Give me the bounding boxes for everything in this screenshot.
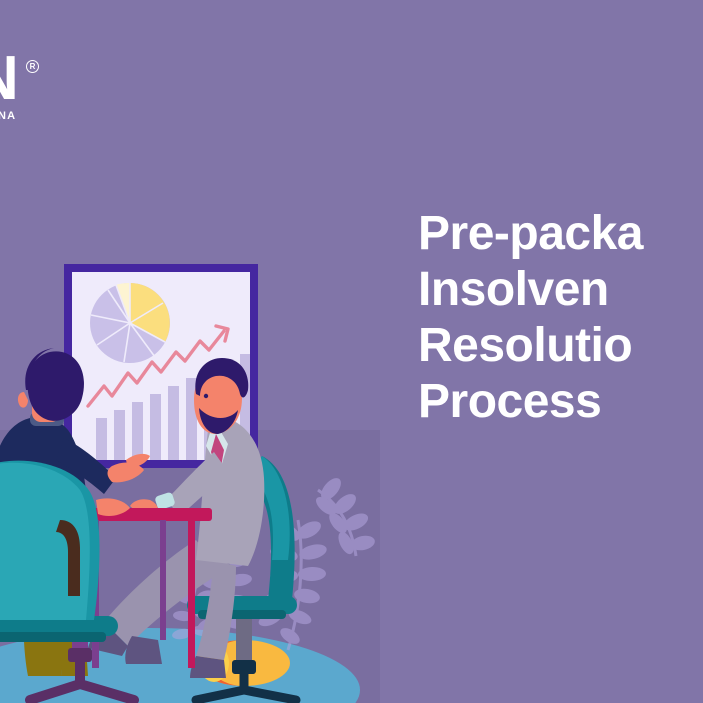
banner-container: N R NA Pre-packa Insolven Resolutio Proc… <box>0 0 703 703</box>
presenter-front-shoe <box>125 636 162 664</box>
title-line-1: Pre-packa <box>418 206 703 262</box>
office-illustration <box>0 0 380 703</box>
page-title: Pre-packa Insolven Resolutio Process <box>418 206 703 431</box>
title-line-2: Insolven <box>418 262 703 318</box>
pie-chart <box>90 283 170 363</box>
title-line-3: Resolutio <box>418 318 703 374</box>
title-line-4: Process <box>418 374 703 430</box>
